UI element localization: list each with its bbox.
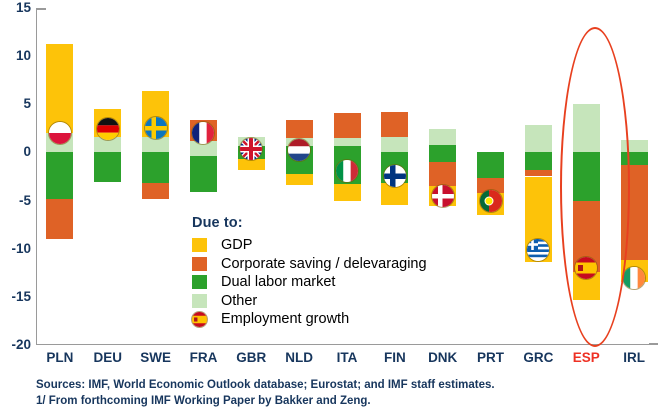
- bar-segment: [573, 152, 600, 200]
- bar-segment: [573, 104, 600, 152]
- x-axis-label-grc: GRC: [514, 351, 562, 365]
- legend-color-swatch: [192, 257, 207, 271]
- x-axis-label-fin: FIN: [371, 351, 419, 365]
- employment-growth-marker-irl: [623, 267, 645, 289]
- bar-segment: [334, 184, 361, 200]
- x-axis-label-nld: NLD: [275, 351, 323, 365]
- bar-segment: [381, 183, 408, 205]
- footnote: Sources: IMF, World Economic Outlook dat…: [36, 377, 656, 410]
- employment-growth-marker-pln: [49, 122, 71, 144]
- employment-growth-marker-swe: [145, 117, 167, 139]
- legend: Due to: GDPCorporate saving / delevaragi…: [192, 215, 492, 329]
- bar-segment: [238, 159, 265, 170]
- employment-growth-marker-deu: [97, 118, 119, 140]
- legend-title: Due to:: [192, 215, 492, 231]
- legend-item[interactable]: Other: [192, 292, 492, 311]
- bar-segment: [46, 199, 73, 239]
- legend-item[interactable]: GDP: [192, 236, 492, 255]
- bar-segment: [142, 137, 169, 152]
- bar-segment: [286, 174, 313, 186]
- bar-deu[interactable]: [94, 0, 121, 345]
- bar-segment: [334, 113, 361, 138]
- bar-segment: [477, 152, 504, 178]
- x-axis-label-prt: PRT: [467, 351, 515, 365]
- legend-color-swatch: [192, 275, 207, 289]
- legend-items: GDPCorporate saving / delevaragingDual l…: [192, 236, 492, 329]
- legend-item-label: Dual labor market: [221, 275, 335, 290]
- bar-segment: [46, 44, 73, 134]
- bar-segment: [525, 170, 552, 177]
- bar-segment: [525, 152, 552, 169]
- x-axis-label-irl: IRL: [610, 351, 658, 365]
- bar-segment: [381, 137, 408, 152]
- employment-growth-marker-grc: [527, 239, 549, 261]
- bar-segment: [621, 165, 648, 260]
- employment-growth-marker-gbr: [240, 138, 262, 160]
- employment-growth-marker-fin: [384, 165, 406, 187]
- bar-segment: [46, 152, 73, 198]
- bar-segment: [286, 120, 313, 138]
- bar-irl[interactable]: [621, 0, 648, 345]
- employment-growth-marker-dnk: [432, 185, 454, 207]
- bar-segment: [429, 129, 456, 144]
- bar-pln[interactable]: [46, 0, 73, 345]
- bar-segment: [429, 145, 456, 162]
- bar-segment: [621, 152, 648, 165]
- legend-item[interactable]: Corporate saving / delevaraging: [192, 255, 492, 274]
- employment-growth-marker-nld: [288, 139, 310, 161]
- bar-segment: [334, 138, 361, 146]
- footnote-sources: Sources: IMF, World Economic Outlook dat…: [36, 377, 656, 393]
- bar-grc[interactable]: [525, 0, 552, 345]
- stacked-bar-chart: 151050-5-10-15-20 PLNDEUSWEFRAGBRNLDITAF…: [0, 0, 669, 414]
- spain-flag-icon: [192, 312, 207, 327]
- x-axis-label-esp: ESP: [562, 351, 610, 365]
- bar-esp[interactable]: [573, 0, 600, 345]
- bar-segment: [142, 152, 169, 183]
- x-axis-label-swe: SWE: [132, 351, 180, 365]
- bar-segment: [621, 140, 648, 153]
- legend-color-swatch: [192, 294, 207, 308]
- bar-segment: [429, 162, 456, 186]
- bar-segment: [381, 112, 408, 137]
- legend-item-label: Other: [221, 294, 257, 309]
- legend-item-label: Corporate saving / delevaraging: [221, 257, 427, 272]
- legend-item-label: GDP: [221, 238, 252, 253]
- x-axis-label-gbr: GBR: [227, 351, 275, 365]
- legend-item[interactable]: Dual labor market: [192, 273, 492, 292]
- x-axis-label-pln: PLN: [36, 351, 84, 365]
- bar-segment: [94, 152, 121, 182]
- bar-segment: [525, 125, 552, 152]
- footnote-note: 1/ From forthcoming IMF Working Paper by…: [36, 393, 656, 409]
- legend-item[interactable]: Employment growth: [192, 310, 492, 329]
- legend-color-swatch: [192, 238, 207, 252]
- legend-item-label: Employment growth: [221, 312, 349, 327]
- bar-segment: [190, 156, 217, 192]
- x-axis-label-ita: ITA: [323, 351, 371, 365]
- employment-growth-marker-prt: [480, 190, 502, 212]
- bar-swe[interactable]: [142, 0, 169, 345]
- x-axis-label-fra: FRA: [180, 351, 228, 365]
- bar-segment: [142, 183, 169, 198]
- employment-growth-marker-ita: [336, 160, 358, 182]
- x-axis-label-deu: DEU: [84, 351, 132, 365]
- x-axis-label-dnk: DNK: [419, 351, 467, 365]
